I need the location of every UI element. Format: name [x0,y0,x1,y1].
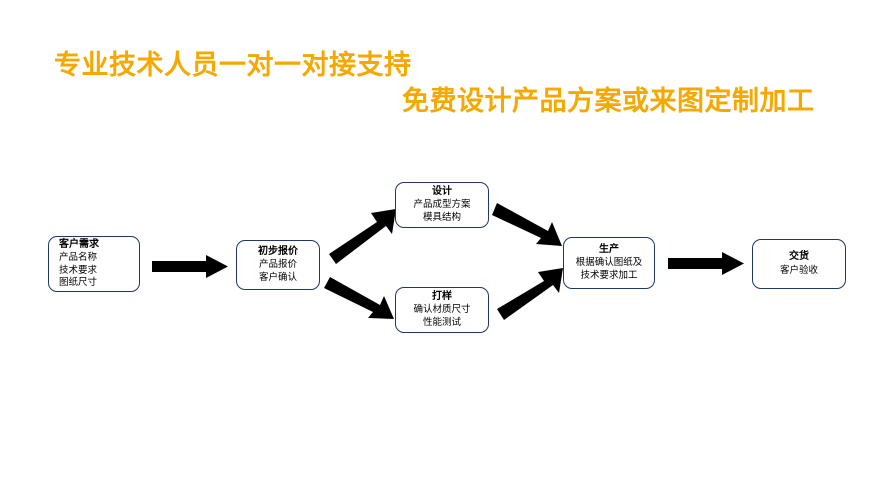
flow-node-delivery[interactable]: 交货 客户验收 [752,239,846,289]
flow-node-sample-line-2: 性能测试 [423,317,461,329]
flow-node-produce-line-2: 技术要求加工 [580,270,637,282]
arrow-produce-to-delivery [668,252,744,275]
flow-node-demand-title: 客户需求 [59,239,99,252]
flow-node-design-line-2: 模具结构 [423,212,461,224]
flow-node-demand-line-3: 图纸尺寸 [59,277,97,289]
flow-node-quote[interactable]: 初步报价 产品报价 客户确认 [236,240,320,290]
flow-node-demand-line-1: 产品名称 [59,252,97,264]
arrow-quote-to-design [329,209,396,264]
flow-node-sample[interactable]: 打样 确认材质尺寸 性能测试 [395,287,489,333]
arrow-sample-to-produce [497,268,563,320]
headline-secondary: 免费设计产品方案或来图定制加工 [402,88,815,115]
flow-node-sample-line-1: 确认材质尺寸 [413,304,470,316]
flow-node-quote-line-2: 客户确认 [259,272,297,284]
slide-canvas: 专业技术人员一对一对接支持 免费设计产品方案或来图定制加工 客户需求 [0,0,892,499]
arrow-design-to-produce [492,203,562,246]
headline-primary: 专业技术人员一对一对接支持 [54,52,412,79]
flow-node-sample-title: 打样 [432,291,452,304]
arrow-demand-to-quote [152,255,228,278]
flow-node-quote-title: 初步报价 [258,246,298,259]
arrow-quote-to-sample [324,277,394,319]
flow-node-design[interactable]: 设计 产品成型方案 模具结构 [395,182,489,228]
flow-node-design-title: 设计 [432,186,452,199]
flow-node-delivery-title: 交货 [789,251,809,264]
flow-node-delivery-line-1: 客户验收 [780,265,818,277]
flow-node-produce-line-1: 根据确认图纸及 [576,257,643,269]
flow-node-produce[interactable]: 生产 根据确认图纸及 技术要求加工 [563,237,655,289]
flow-node-demand-line-2: 技术要求 [59,265,97,277]
flow-node-design-line-1: 产品成型方案 [413,199,470,211]
flow-node-demand[interactable]: 客户需求 产品名称 技术要求 图纸尺寸 [48,236,140,292]
flow-node-quote-line-1: 产品报价 [259,259,297,271]
flow-node-produce-title: 生产 [599,244,619,257]
